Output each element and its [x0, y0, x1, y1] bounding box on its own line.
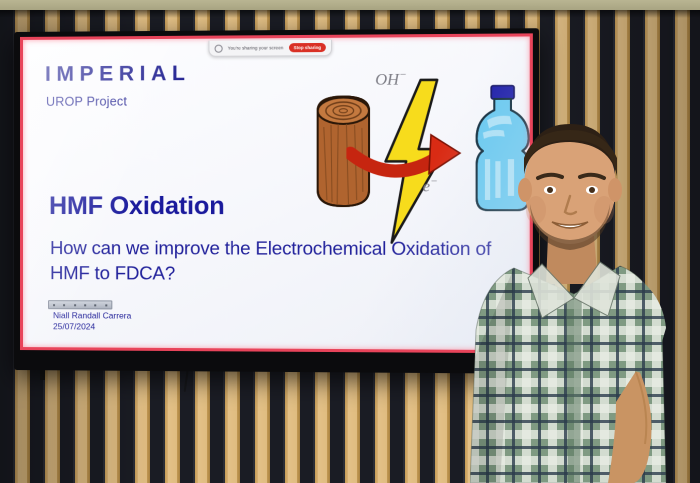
share-status-text: You're sharing your screen — [228, 45, 284, 50]
display-screen: You're sharing your screen Stop sharing … — [23, 36, 530, 350]
slide-heading: HMF Oxidation — [49, 192, 224, 221]
wall-display-icon: You're sharing your screen Stop sharing … — [14, 28, 539, 374]
curved-arrow-icon — [346, 131, 475, 192]
slide-byline: Niall Randall Carrera 25/07/2024 — [53, 310, 131, 333]
photo-scene: You're sharing your screen Stop sharing … — [0, 0, 700, 483]
presentation-slide: IMPERIAL UROP Project HMF Oxidation How … — [23, 36, 530, 350]
stop-sharing-button[interactable]: Stop sharing — [289, 43, 327, 52]
screen-share-icon — [215, 44, 223, 52]
slide-date: 25/07/2024 — [53, 322, 131, 334]
wall-top-shadow — [0, 10, 700, 18]
screen-share-bar[interactable]: You're sharing your screen Stop sharing — [208, 40, 332, 57]
display-bezel: You're sharing your screen Stop sharing … — [20, 33, 533, 353]
electron-label: e− — [423, 176, 438, 197]
imperial-logo-text: IMPERIAL — [45, 63, 191, 85]
textbox-selection-handle[interactable] — [48, 300, 112, 309]
hydroxide-label: OH− — [375, 69, 407, 90]
presenter — [470, 118, 700, 483]
author-name: Niall Randall Carrera — [53, 310, 131, 322]
slide-subtitle: UROP Project — [46, 94, 127, 108]
